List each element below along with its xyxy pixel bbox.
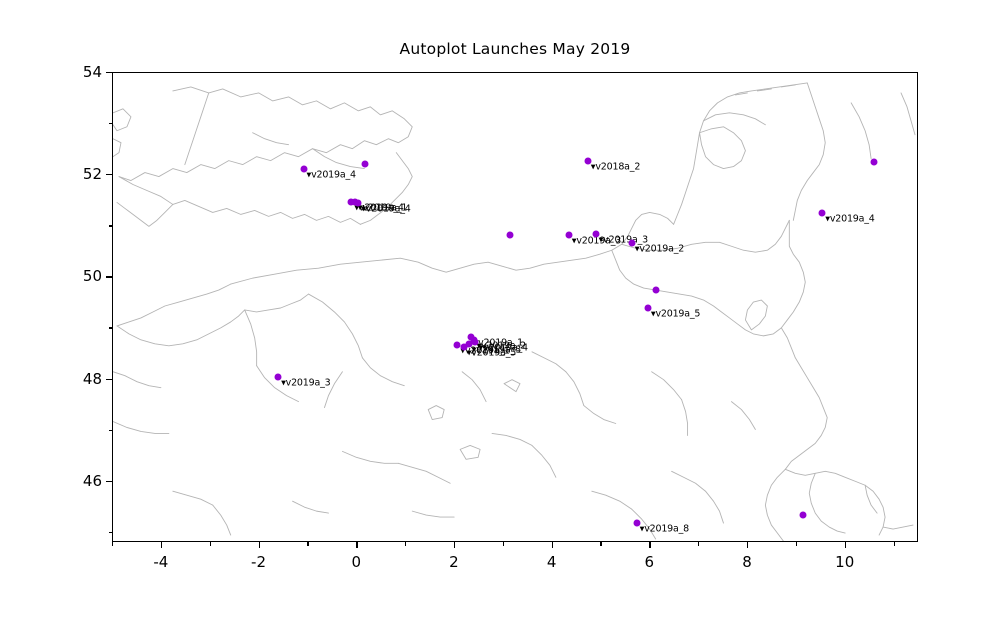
data-point-label: ▾v2018a_2 [591, 161, 640, 172]
data-point-marker[interactable] [871, 159, 878, 166]
x-tick-label: -2 [251, 553, 266, 571]
data-point-label: ▾v2019a_5 [467, 347, 516, 358]
x-tick-major [845, 542, 846, 548]
y-tick-major [106, 379, 112, 380]
data-point-label: ▾v2019a_2 [635, 243, 684, 254]
data-point-marker[interactable] [799, 511, 806, 518]
x-tick-major [454, 542, 455, 548]
basemap-coastlines [113, 73, 917, 541]
x-tick-minor [503, 542, 504, 546]
x-tick-minor [307, 542, 308, 546]
x-tick-label: 4 [547, 553, 557, 571]
y-tick-major [106, 481, 112, 482]
x-tick-minor [405, 542, 406, 546]
x-tick-label: 0 [351, 553, 361, 571]
x-tick-minor [112, 542, 113, 546]
data-point-marker[interactable] [506, 232, 513, 239]
data-point-label: ▾v2019a_4 [307, 170, 356, 181]
x-tick-minor [600, 542, 601, 546]
x-tick-label: 8 [742, 553, 752, 571]
x-tick-minor [210, 542, 211, 546]
y-tick-label: 50 [83, 267, 102, 285]
data-point-label: ▾v2019a_4 [825, 214, 874, 225]
data-point-label: ▾v2019a_8 [640, 523, 689, 534]
x-tick-minor [894, 542, 895, 546]
x-tick-label: 6 [645, 553, 655, 571]
x-tick-major [649, 542, 650, 548]
y-tick-minor [109, 225, 113, 226]
x-tick-major [161, 542, 162, 548]
x-tick-label: 2 [449, 553, 459, 571]
y-tick-major [106, 174, 112, 175]
y-tick-label: 52 [83, 165, 102, 183]
x-tick-label: 10 [835, 553, 854, 571]
y-tick-minor [109, 327, 113, 328]
x-tick-major [747, 542, 748, 548]
data-point-marker[interactable] [361, 160, 368, 167]
data-point-label: ▾v2019a_5 [651, 309, 700, 320]
x-tick-minor [796, 542, 797, 546]
data-point-marker[interactable] [653, 287, 660, 294]
y-tick-label: 48 [83, 370, 102, 388]
y-tick-label: 46 [83, 472, 102, 490]
y-tick-minor [109, 123, 113, 124]
x-tick-label: -4 [153, 553, 168, 571]
x-tick-major [552, 542, 553, 548]
page-title: Autoplot Launches May 2019 [112, 40, 918, 58]
x-tick-minor [698, 542, 699, 546]
data-point-label: ▾v2019a_4 [361, 203, 410, 214]
data-point-label: ▾v2019a_3 [281, 377, 330, 388]
figure-canvas: Autoplot Launches May 2019 [0, 0, 1003, 633]
y-tick-major [106, 72, 112, 73]
y-tick-label: 54 [83, 63, 102, 81]
x-tick-major [356, 542, 357, 548]
y-tick-minor [109, 532, 113, 533]
y-tick-major [106, 276, 112, 277]
scatter-plot-axes: ▾v2019a_4▾v2019a_4▾v2019a_1▾v2019a_4▾v20… [112, 72, 918, 542]
y-tick-minor [109, 430, 113, 431]
x-tick-major [259, 542, 260, 548]
